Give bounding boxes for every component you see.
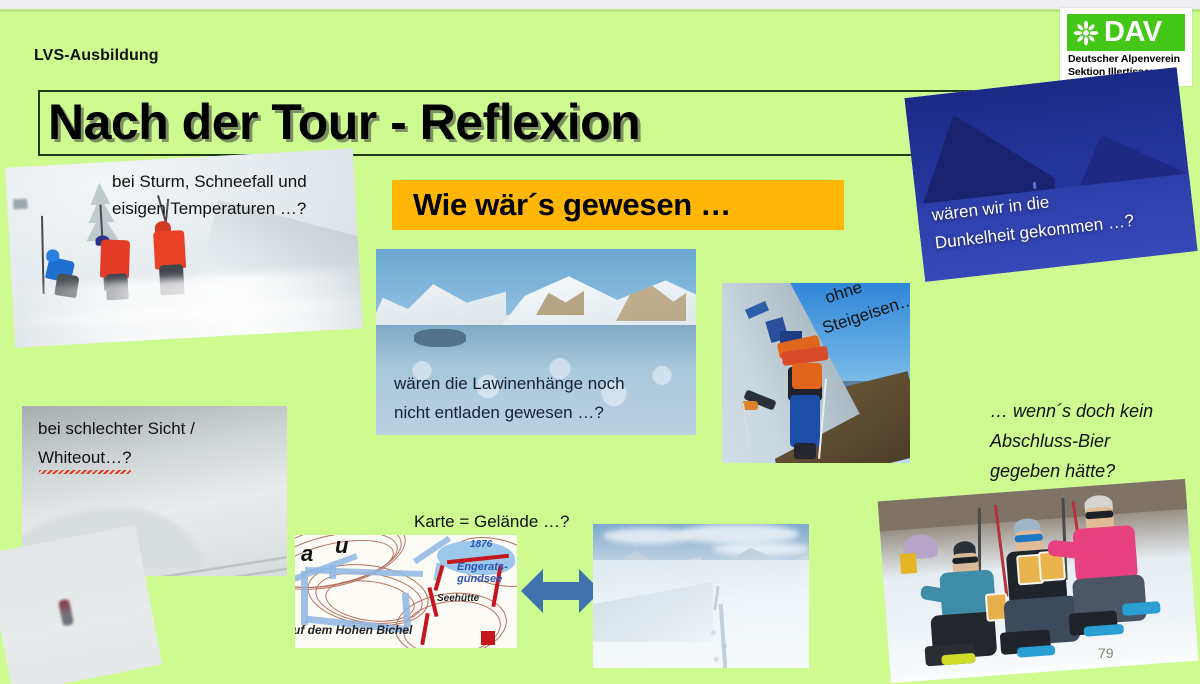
whiteout-caption-line2: Whiteout…?: [38, 443, 278, 472]
climber-main-boots: [794, 443, 816, 459]
night-photo: wären wir in die Dunkelheit gekommen …?: [904, 67, 1197, 282]
map-lake-label-line1: Engerats-: [457, 561, 508, 573]
dav-logo-text: DAV: [1104, 18, 1162, 47]
avalanche-debris-block: [414, 329, 466, 347]
banner-label: Wie wär´s gewesen …: [413, 187, 731, 223]
skin-track-photo: [593, 524, 809, 668]
map-terrain-caption: Karte = Gelände …?: [414, 508, 569, 535]
fog-photo: [0, 525, 162, 684]
storm-rocks: [13, 199, 28, 210]
skier-red: [100, 239, 130, 278]
climber-main-legs: [790, 395, 820, 447]
storm-caption-line1: bei Sturm, Schneefall und: [112, 168, 372, 195]
double-arrow-icon: [521, 565, 601, 617]
storm-caption: bei Sturm, Schneefall und eisigen Temper…: [112, 168, 372, 222]
page-number: 79: [1098, 645, 1114, 661]
beer-caption-line1: … wenn´s doch kein: [990, 396, 1200, 426]
beer-caption-line2: Abschluss-Bier: [990, 426, 1200, 456]
map-letter-a: a: [301, 541, 313, 567]
whiteout-caption-line1: bei schlechter Sicht /: [38, 414, 278, 443]
top-strip: [0, 0, 1200, 9]
slide-top-edge: [0, 9, 1200, 12]
spellcheck-underline: [39, 470, 131, 474]
map-photo: 1876 Engerats- gundsee Seehütte uf dem H…: [295, 535, 517, 648]
cloud: [679, 524, 799, 544]
map-elevation-label: 1876: [470, 539, 492, 550]
map-lake-label-line2: gundsee: [457, 573, 502, 585]
steigeisen-photo: ohne Steigeisen…?: [722, 283, 910, 463]
skier-red2: [153, 230, 186, 270]
night-skier-dot: [1033, 182, 1037, 189]
climber-main-backpack: [792, 363, 822, 389]
skin-track-steps: [705, 624, 733, 668]
beer-caption-line3: gegeben hätte?: [990, 456, 1200, 486]
avalanche-caption: wären die Lawinenhänge noch nicht entlad…: [394, 369, 684, 427]
edelweiss-icon: [1073, 20, 1099, 46]
map-route-band: [329, 565, 336, 579]
beer-photo: [878, 479, 1199, 683]
avalanche-peaks: [376, 259, 696, 331]
dav-logo-subtitle-line1: Deutscher Alpenverein: [1068, 53, 1188, 66]
map-hut-symbol: [481, 631, 495, 645]
skier-blue-hood: [46, 249, 60, 262]
storm-caption-line2: eisigen Temperaturen …?: [112, 195, 372, 222]
avalanche-photo: wären die Lawinenhänge noch nicht entlad…: [376, 249, 696, 435]
map-letter-u: u: [335, 535, 348, 559]
banner-wie-waers-gewesen: Wie wär´s gewesen …: [392, 180, 844, 230]
whiteout-caption: bei schlechter Sicht / Whiteout…?: [38, 414, 278, 472]
map-hut-label: Seehütte: [437, 593, 479, 604]
slide-kicker: LVS-Ausbildung: [34, 47, 159, 65]
beer-caption: … wenn´s doch kein Abschluss-Bier gegebe…: [990, 396, 1200, 486]
page-title: Nach der Tour - Reflexion: [48, 92, 948, 152]
avalanche-caption-line2: nicht entladen gewesen …?: [394, 398, 684, 427]
dav-logo-green-block: DAV: [1067, 14, 1185, 51]
slide: LVS-Ausbildung Nach der Tour - Reflexion: [0, 0, 1200, 684]
avalanche-caption-line1: wären die Lawinenhänge noch: [394, 369, 684, 398]
fog-background: [0, 525, 162, 684]
map-ridge-label: uf dem Hohen Bichel: [295, 623, 412, 637]
beacon-device: [900, 553, 917, 574]
